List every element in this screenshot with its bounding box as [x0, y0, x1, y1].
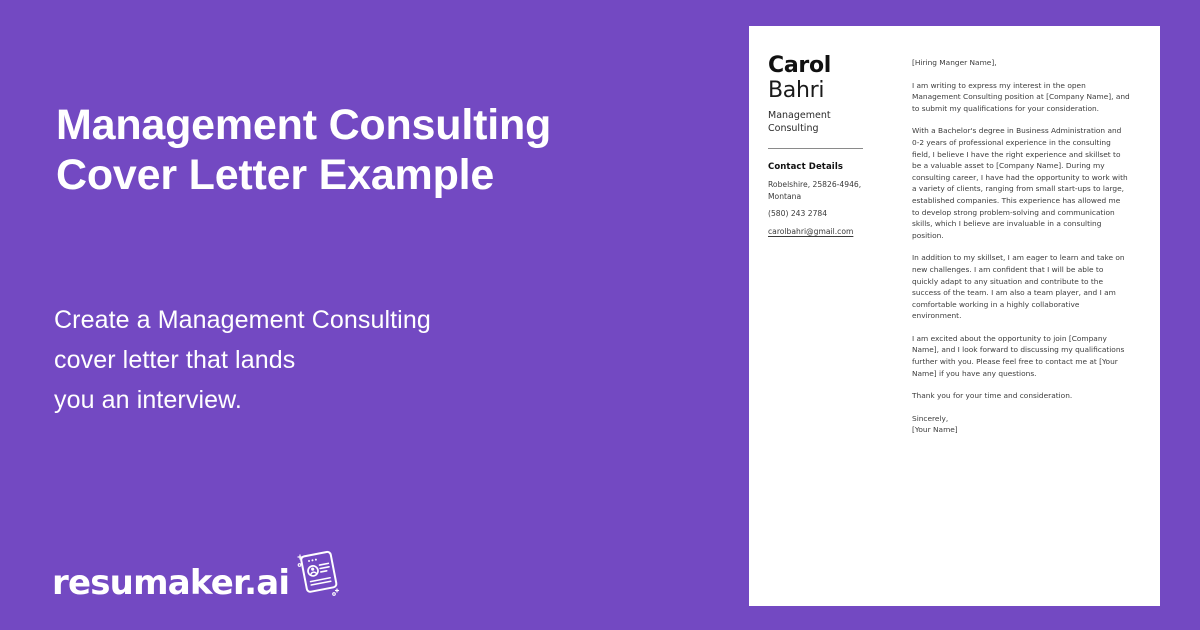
- letter-sign-off: Sincerely, [Your Name]: [912, 413, 1130, 436]
- letter-paragraph-2: With a Bachelor's degree in Business Adm…: [912, 125, 1130, 241]
- contact-details-heading: Contact Details: [768, 162, 894, 172]
- brand-logo[interactable]: resumaker.ai: [52, 548, 343, 600]
- letter-signature: [Your Name]: [912, 424, 1130, 436]
- contact-phone: (580) 243 2784: [768, 208, 880, 220]
- letter-paragraph-5: Thank you for your time and consideratio…: [912, 390, 1130, 402]
- letter-salutation: [Hiring Manger Name],: [912, 57, 1130, 69]
- contact-email[interactable]: carolbahri@gmail.com: [768, 226, 880, 238]
- page-subtitle-line-3: you an interview.: [54, 380, 654, 420]
- contact-address-line-2: Montana: [768, 192, 801, 201]
- letter-closing: Sincerely,: [912, 413, 1130, 425]
- resume-document-icon: [293, 549, 343, 602]
- job-title-line-1: Management: [768, 110, 894, 123]
- contact-address-line-1: Robelshire, 25826-4946,: [768, 180, 861, 189]
- page-subtitle: Create a Management Consulting cover let…: [54, 300, 654, 420]
- letter-paragraph-1: I am writing to express my interest in t…: [912, 80, 1130, 115]
- document-sidebar: Carol Bahri Management Consulting Contac…: [749, 26, 894, 606]
- page-subtitle-line-2: cover letter that lands: [54, 340, 654, 380]
- cover-letter-document[interactable]: Carol Bahri Management Consulting Contac…: [749, 26, 1160, 606]
- page-title-line-2: Cover Letter Example: [56, 151, 494, 199]
- sidebar-divider: [768, 148, 863, 149]
- promo-panel: Management Consulting Cover Letter Examp…: [0, 0, 749, 630]
- letter-paragraph-4: I am excited about the opportunity to jo…: [912, 333, 1130, 379]
- page-subtitle-line-1: Create a Management Consulting: [54, 300, 654, 340]
- letter-paragraph-3: In addition to my skillset, I am eager t…: [912, 252, 1130, 322]
- candidate-first-name: Carol: [768, 54, 894, 78]
- brand-wordmark: resumaker.ai: [52, 566, 289, 600]
- candidate-job-title: Management Consulting: [768, 110, 894, 135]
- page-title-line-1: Management Consulting: [56, 101, 551, 149]
- job-title-line-2: Consulting: [768, 123, 894, 136]
- contact-details-list: Robelshire, 25826-4946, Montana (580) 24…: [768, 179, 894, 237]
- page-title: Management Consulting Cover Letter Examp…: [56, 100, 696, 200]
- document-letter-body: [Hiring Manger Name], I am writing to ex…: [894, 26, 1160, 606]
- contact-address: Robelshire, 25826-4946, Montana: [768, 179, 880, 202]
- candidate-last-name: Bahri: [768, 79, 894, 103]
